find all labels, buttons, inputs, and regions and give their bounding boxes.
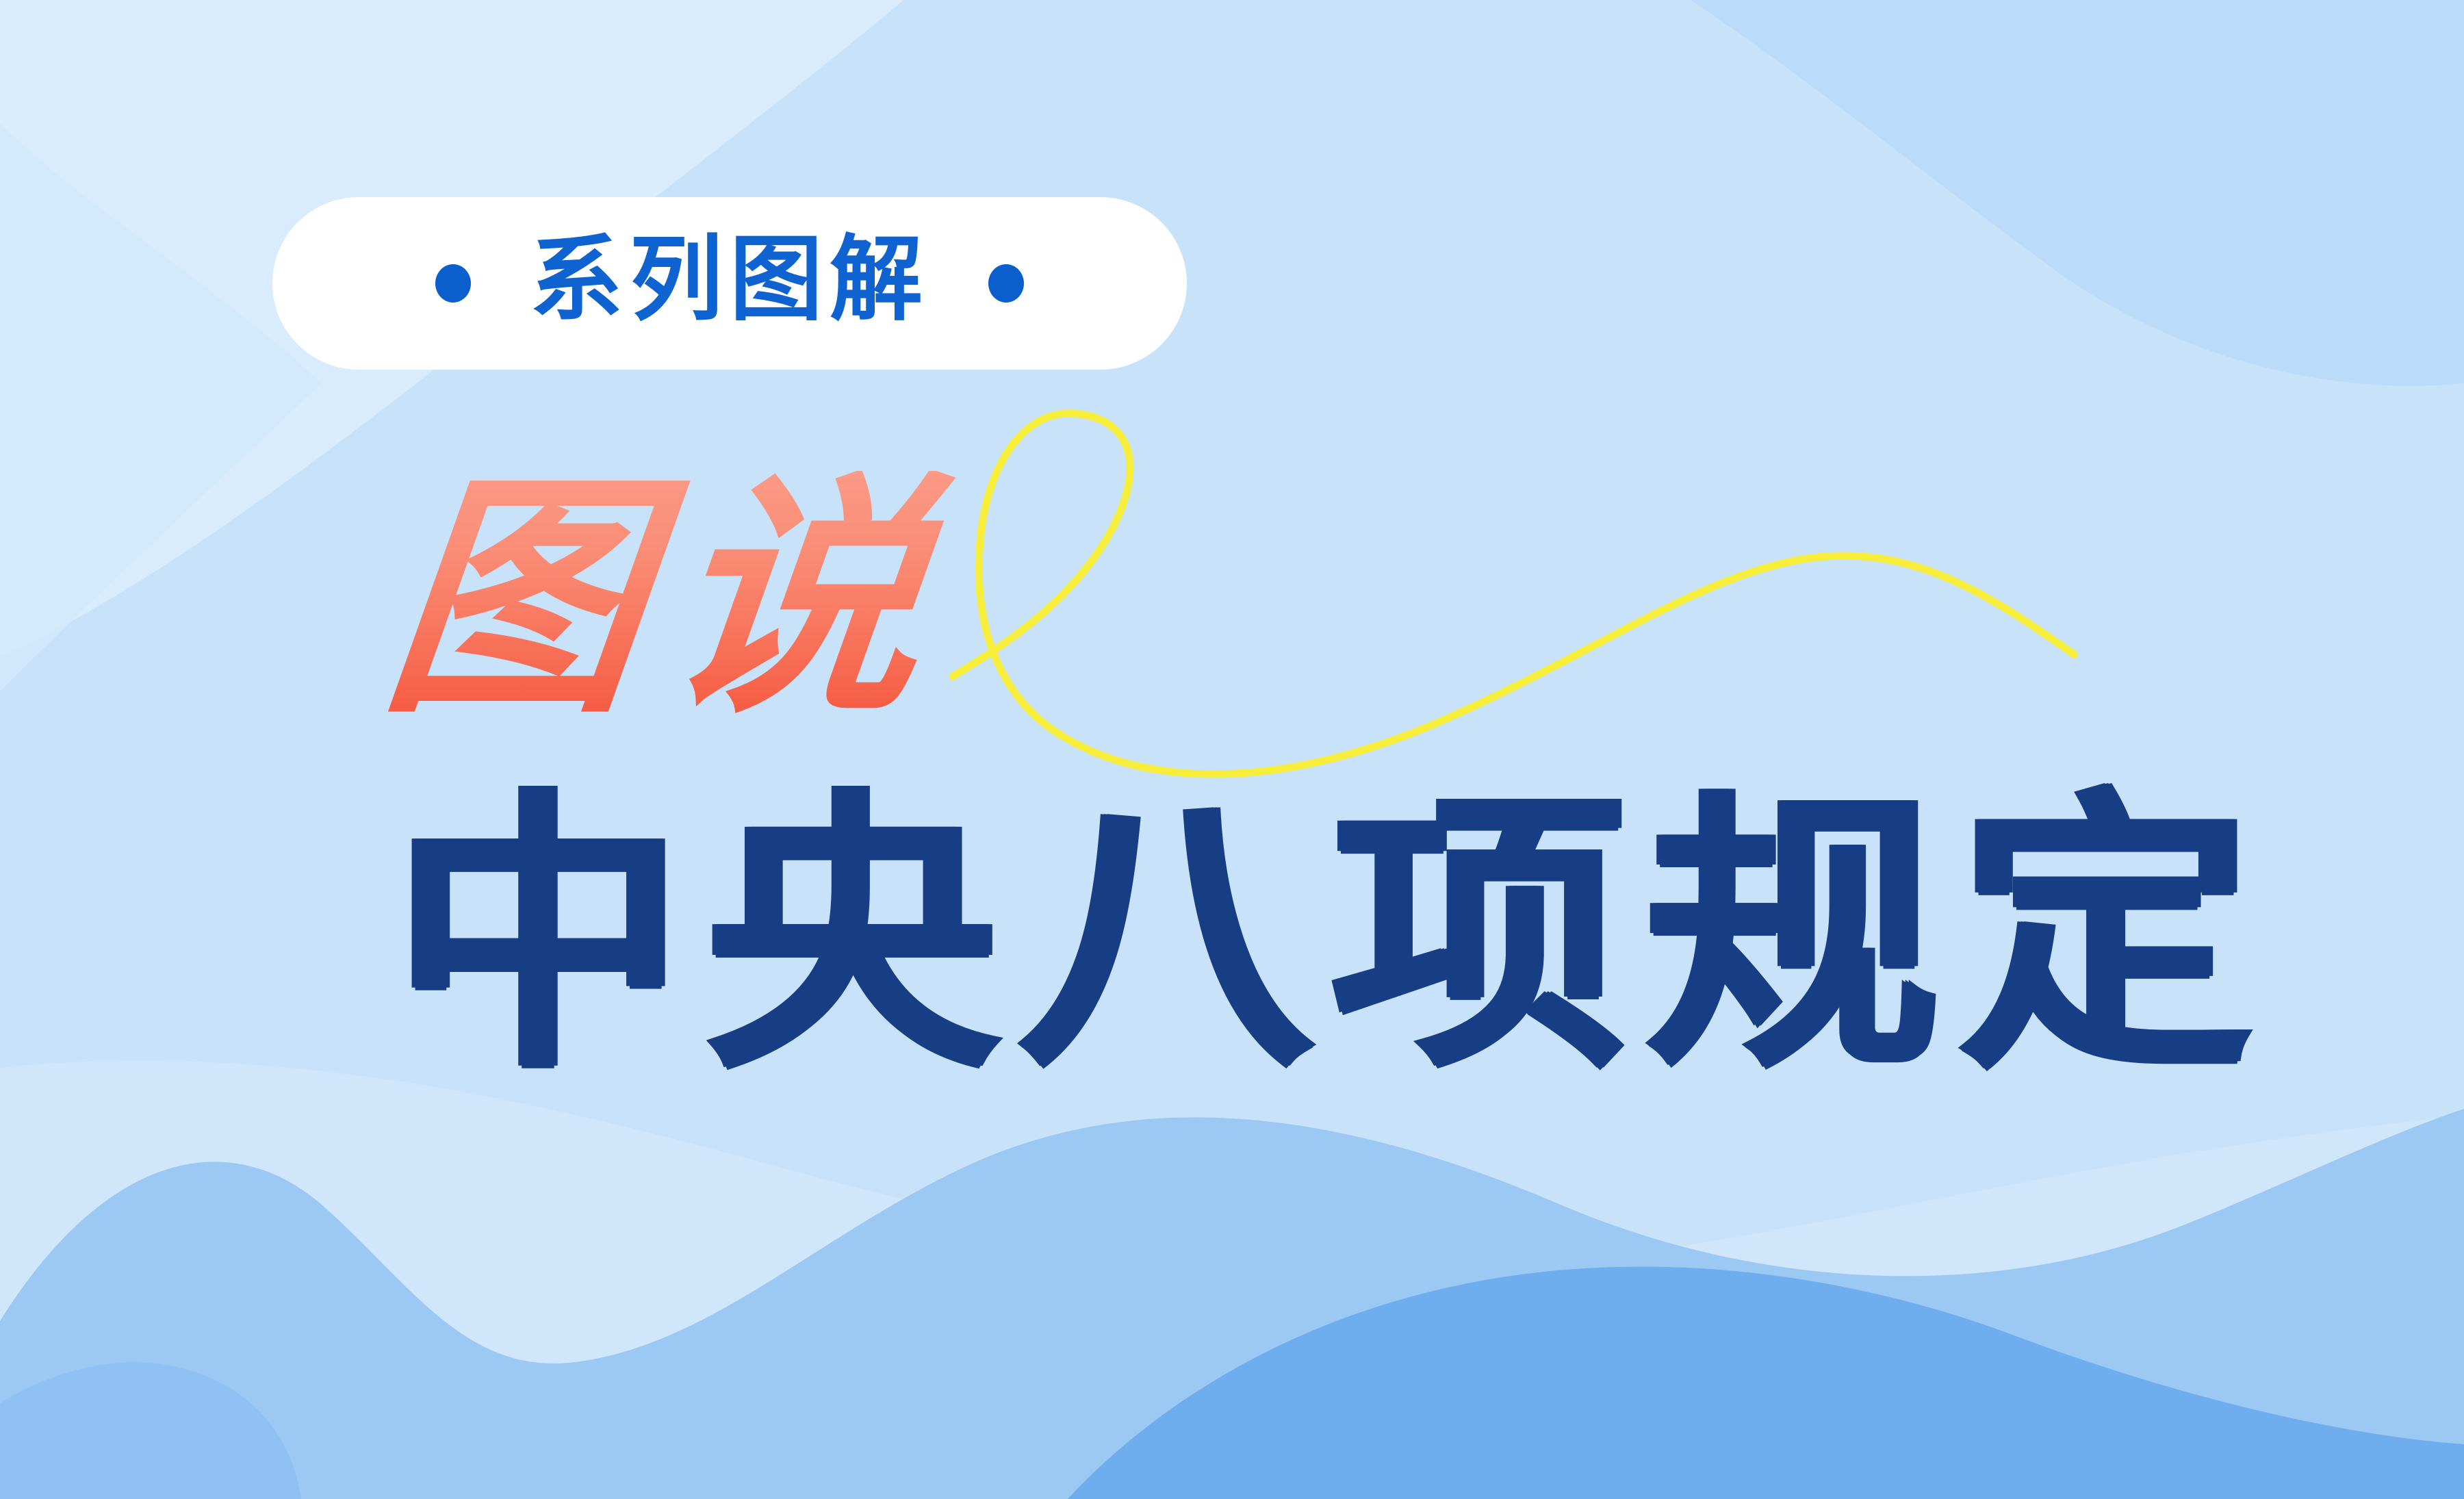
badge-left-dot-icon <box>435 264 471 303</box>
ribbon-path <box>953 413 2074 774</box>
page-title: 中央八项规定 <box>392 772 2272 1102</box>
badge-label: 系列图解 <box>530 233 929 326</box>
series-badge[interactable]: 系列图解 <box>272 197 1187 370</box>
calligraphy-subtitle: 图说 <box>375 471 960 726</box>
badge-right-dot-icon <box>988 264 1024 303</box>
poster-canvas: 系列图解 图说 中央八项规定 <box>0 0 2464 1499</box>
